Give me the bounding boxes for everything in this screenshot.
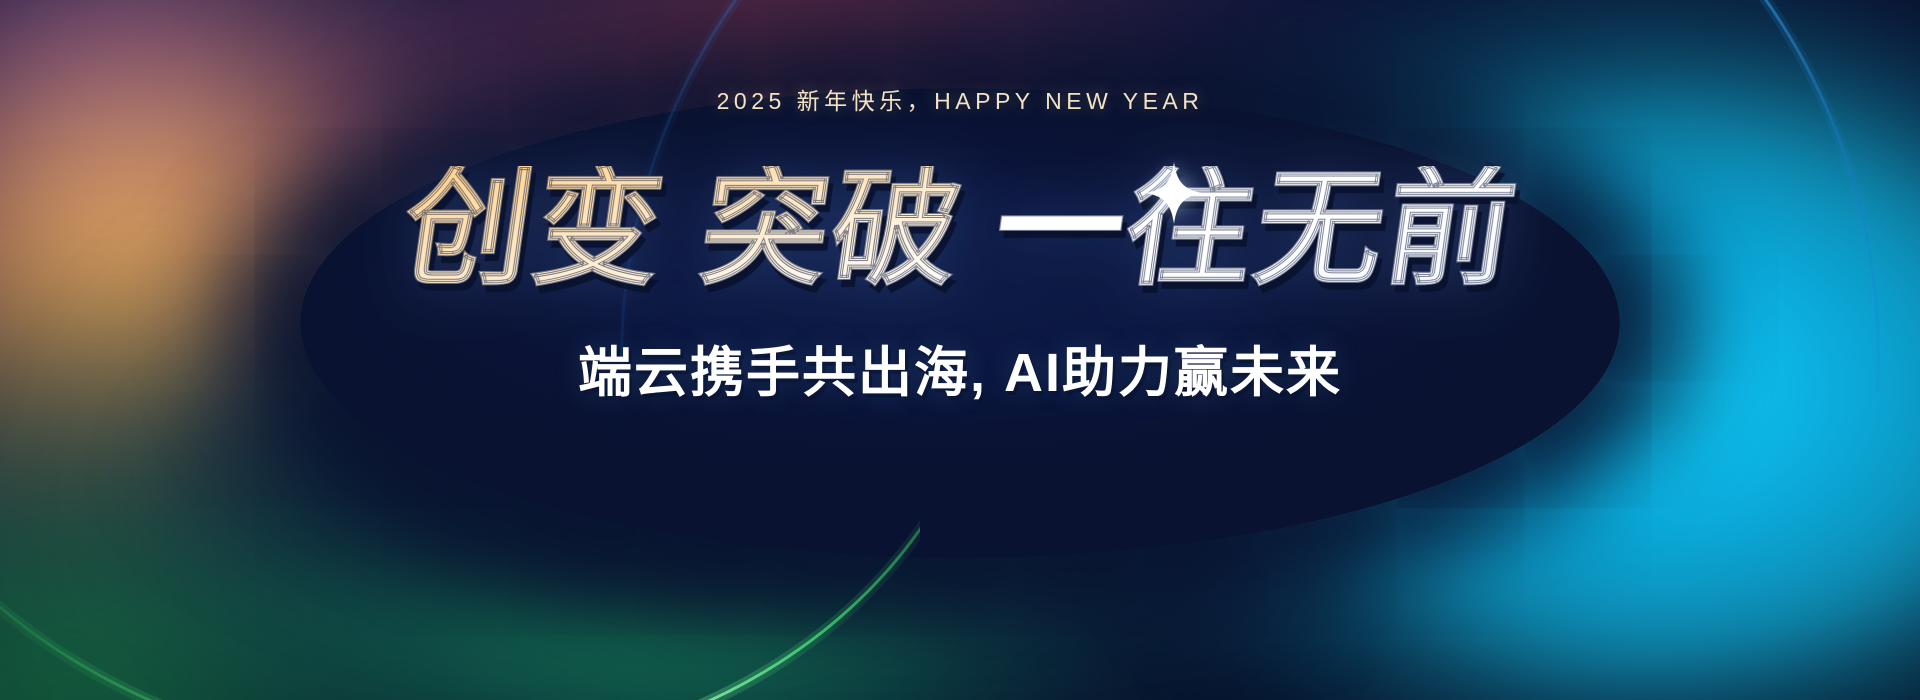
new-year-hero-banner: 2025 新年快乐，HAPPY NEW YEAR 创变 突破 一往无前 端云携手… [0, 0, 1920, 700]
headline-gold-part: 创变 突破 [395, 166, 971, 294]
banner-tagline: 2025 新年快乐，HAPPY NEW YEAR [717, 82, 1204, 116]
banner-headline: 创变 突破 一往无前 [404, 166, 1516, 294]
banner-subtitle: 端云携手共出海, AI助力赢未来 [578, 328, 1342, 407]
headline-white-part: 一往无前 [987, 166, 1525, 294]
banner-content: 2025 新年快乐，HAPPY NEW YEAR 创变 突破 一往无前 端云携手… [0, 0, 1920, 700]
sparkle-star-icon [1146, 162, 1202, 224]
